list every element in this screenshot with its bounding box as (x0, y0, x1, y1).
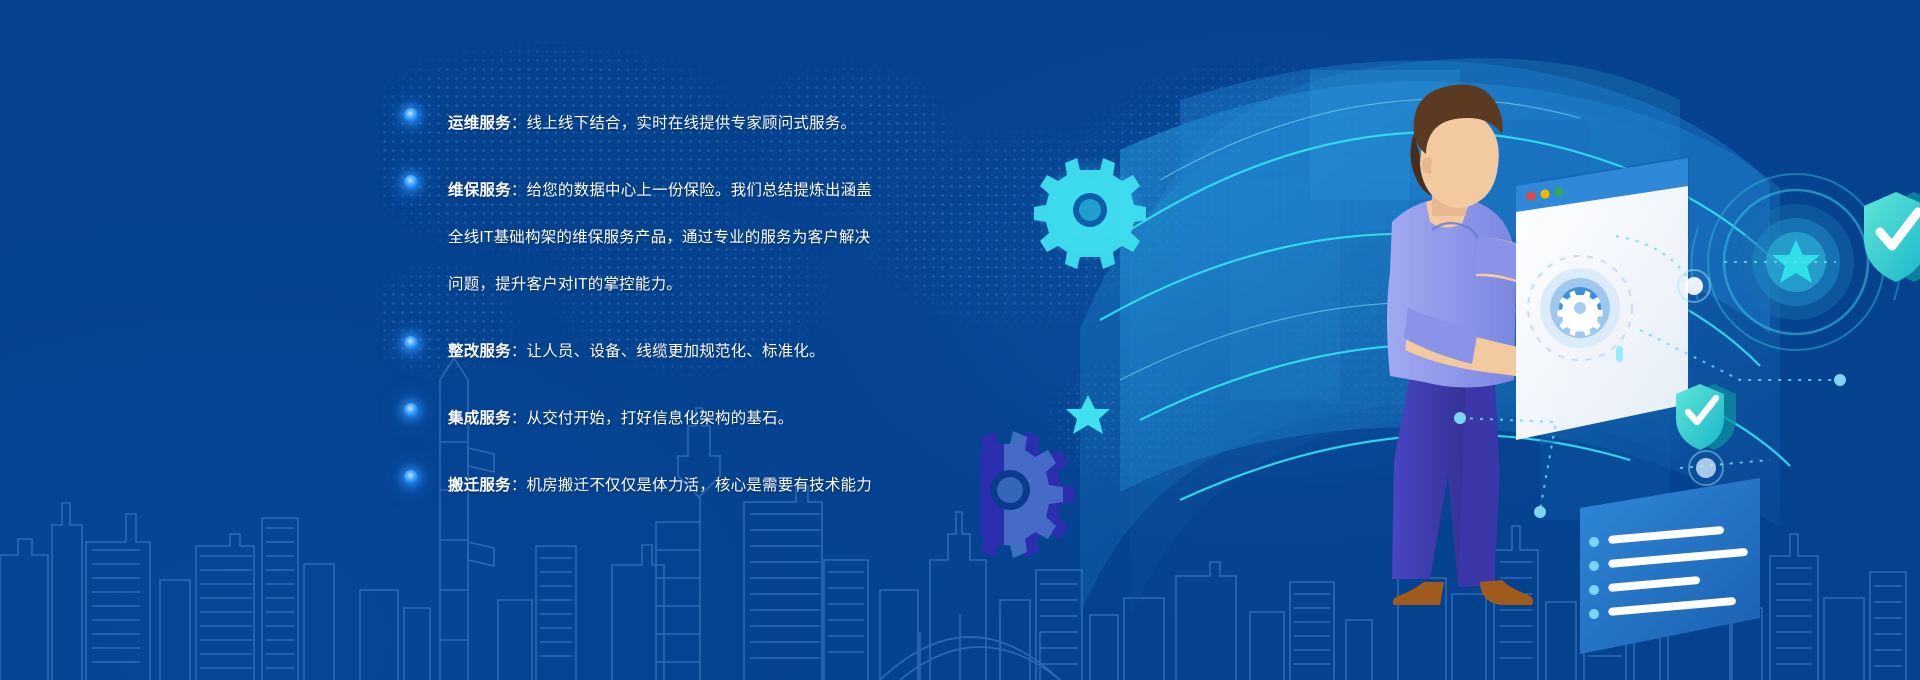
bullet-dot-icon (404, 336, 418, 350)
feature-term: 整改服务 (448, 343, 511, 360)
feature-separator: ： (511, 115, 527, 132)
feature-term: 集成服务 (448, 410, 511, 427)
check-shield-small (1676, 384, 1736, 450)
feature-text: 给您的数据中心上一份保险。我们总结提炼出涵盖 (527, 182, 872, 199)
gear-icon-dark (980, 431, 1075, 558)
feature-text: 线上线下结合，实时在线提供专家顾问式服务。 (527, 115, 857, 132)
feature-text: 机房搬迁不仅仅是体力活，核心是需要有技术能力 (527, 477, 872, 494)
feature-separator: ： (511, 477, 527, 494)
feature-text: 让人员、设备、线缆更加规范化、标准化。 (527, 343, 825, 360)
shoe (1480, 580, 1533, 605)
feature-text: 从交付开始，打好信息化架构的基石。 (527, 410, 794, 427)
browser-dot-yellow (1540, 189, 1549, 198)
shoe (1393, 582, 1444, 605)
feature-separator: ： (511, 182, 527, 199)
browser-dot-green (1554, 187, 1563, 196)
bullet-dot-icon (404, 403, 418, 417)
bullet-dot-icon (404, 470, 418, 484)
bullet-dot-icon (404, 175, 418, 189)
bullet-dot-icon (404, 108, 418, 122)
hero-banner: 运维服务：线上线下结合，实时在线提供专家顾问式服务。 维保服务：给您的数据中心上… (0, 0, 1920, 680)
feature-separator: ： (511, 410, 527, 427)
hero-illustration (980, 30, 1920, 680)
browser-dot-red (1526, 191, 1535, 200)
check-shield-large (1864, 192, 1920, 282)
feature-separator: ： (511, 343, 527, 360)
feature-term: 运维服务 (448, 115, 511, 132)
feature-term: 搬迁服务 (448, 477, 511, 494)
browser-window-card (1516, 156, 1690, 446)
text-panel-card (1580, 478, 1760, 654)
feature-term: 维保服务 (448, 182, 511, 199)
